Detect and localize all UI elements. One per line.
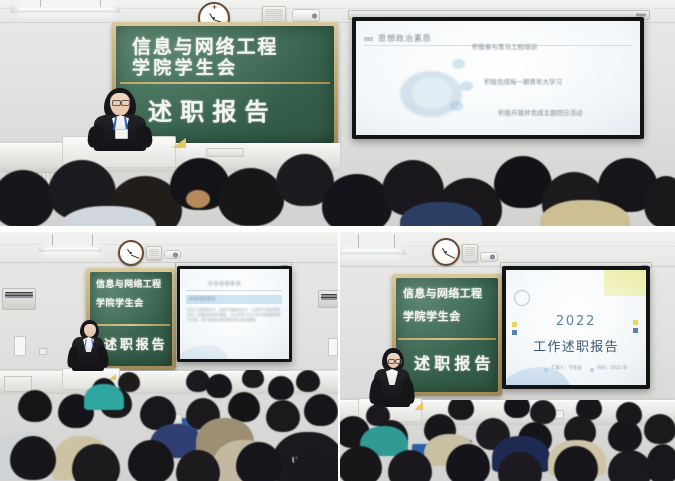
slide-heading: 思想道德素质: [208, 281, 242, 287]
ceiling-projector: [292, 9, 320, 22]
wall-poster: [14, 336, 26, 356]
blackboard-line2: 学院学生会: [403, 308, 461, 324]
fluorescent-tube-light: [44, 248, 98, 251]
slide-bullet-3: 积极开展并完成主题团日活动: [498, 107, 583, 117]
slide-heading: 思想政治素质: [378, 33, 432, 44]
blackboard-title: 述职报告: [104, 334, 167, 353]
wall-socket: [39, 348, 47, 355]
slide-body-text: 作为入党积极分子，始终严格要求自己，认真学习党的理论知识，积极向党组织靠拢；在日…: [187, 308, 283, 324]
blackboard-title: 述职报告: [414, 350, 495, 374]
wall-clock: [432, 238, 460, 266]
slide-bullet-1: 积极参与青马工程培训: [472, 41, 537, 51]
wall-poster-right: [328, 338, 338, 356]
audience-area: [0, 150, 675, 226]
air-conditioner-unit-right: [318, 290, 338, 308]
podium-marker: [172, 138, 186, 148]
blackboard-line2: 学院学生会: [96, 296, 144, 309]
blackboard-line1: 信息与网络工程: [132, 32, 278, 59]
presenter: [370, 348, 414, 408]
presenter: [84, 88, 154, 150]
photo-panel-bottom-right: 信息与网络工程 学院学生会 述职报告 2022: [340, 232, 675, 481]
photo-panel-top: 信息与网络工程 学院学生会 述职报告 思想政治素质: [0, 0, 675, 226]
slide-year: 2022: [506, 314, 646, 329]
photo-panel-bottom-left: 信息与网络工程 学院学生会 述职报告 思想道德素质 思想道德素质 作为入党积极分…: [0, 232, 338, 481]
air-conditioner-unit: [2, 288, 36, 310]
slide-subtitle-right: 时间：2022 年: [597, 365, 627, 371]
presenter: [68, 320, 108, 376]
projection-screen: 思想政治素质 积极参与青马工程培训 积极完成每一期青年大学习 积极开展并完成主题…: [352, 17, 644, 139]
slide-section-label: 思想道德素质: [189, 296, 216, 302]
slide-logo-icon: [514, 290, 530, 306]
blackboard-line1: 信息与网络工程: [96, 277, 162, 290]
ceiling-projector: [480, 252, 498, 262]
blackboard-title: 述职报告: [148, 92, 277, 127]
projection-screen: 思想道德素质 思想道德素质 作为入党积极分子，始终严格要求自己，认真学习党的理论…: [177, 266, 292, 362]
ceiling-speaker: [146, 246, 162, 260]
projection-screen: 2022 工作述职报告 汇报人：学生会 时间：2022 年: [502, 266, 650, 389]
slide-title: 工作述职报告: [506, 336, 646, 355]
audience-area: [340, 400, 675, 481]
audience-area: UNHUA: [0, 370, 338, 481]
blackboard-line1: 信息与网络工程: [403, 285, 482, 301]
ceiling-speaker: [462, 244, 478, 262]
photo-collage: 信息与网络工程 学院学生会 述职报告 思想政治素质: [0, 0, 675, 481]
fluorescent-tube-light: [342, 250, 400, 253]
slide-bullet-2: 积极完成每一期青年大学习: [484, 76, 562, 86]
fluorescent-tube-light: [18, 8, 114, 12]
ceiling-projector: [164, 250, 181, 259]
wall-clock: [118, 240, 144, 266]
blackboard-line2: 学院学生会: [132, 54, 238, 80]
